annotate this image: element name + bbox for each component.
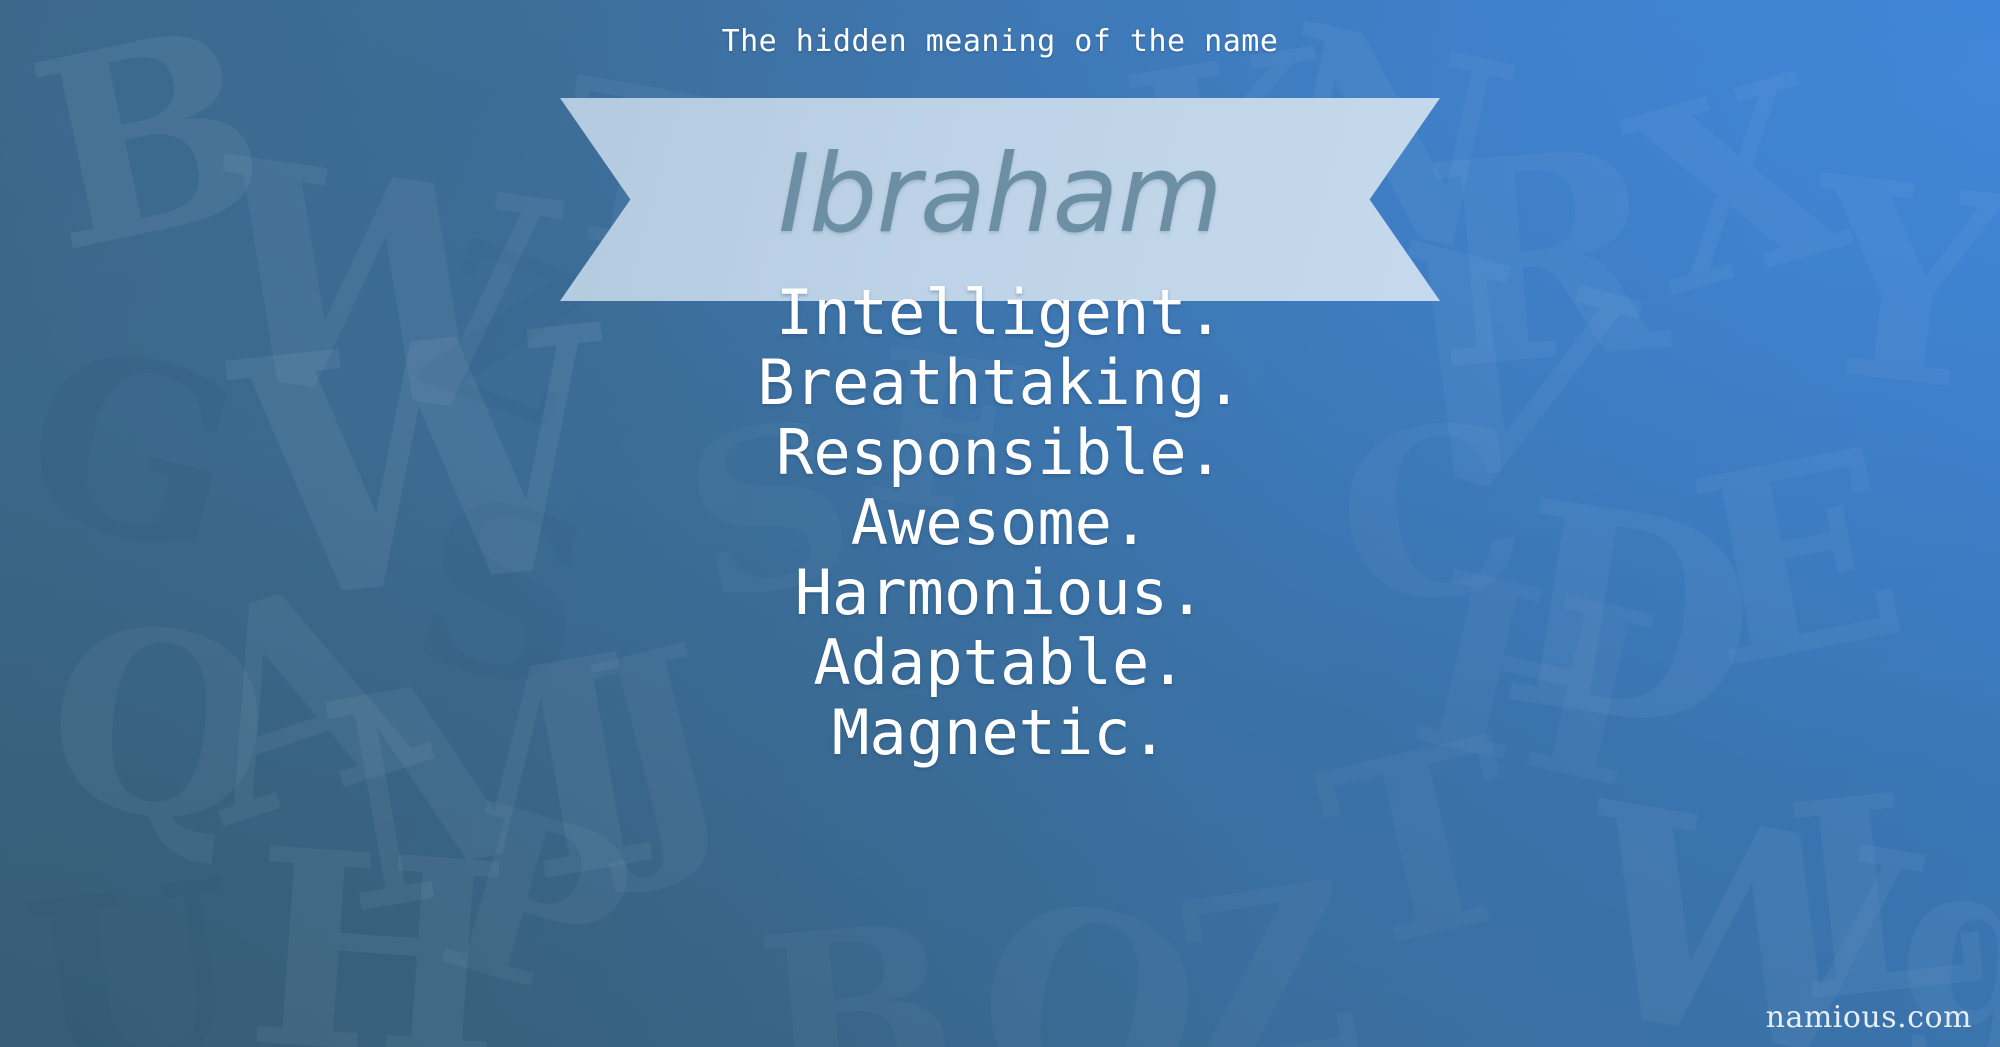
trait-list: Intelligent.Breathtaking.Responsible.Awe…: [0, 278, 2000, 768]
name-meaning-card: BWGWZAQSMHUPJTKNRVXYEDCHLWTgZOBFS The hi…: [0, 0, 2000, 1047]
trait-line: Magnetic.: [0, 698, 2000, 768]
name-ribbon-banner: Ibraham: [560, 98, 1440, 301]
trait-line: Harmonious.: [0, 558, 2000, 628]
trait-line: Intelligent.: [0, 278, 2000, 348]
site-watermark: namious.com: [1766, 1000, 1972, 1035]
trait-line: Breathtaking.: [0, 348, 2000, 418]
name-text: Ibraham: [560, 98, 1440, 301]
trait-line: Responsible.: [0, 418, 2000, 488]
page-title: The hidden meaning of the name: [0, 24, 2000, 59]
trait-line: Adaptable.: [0, 628, 2000, 698]
trait-line: Awesome.: [0, 488, 2000, 558]
